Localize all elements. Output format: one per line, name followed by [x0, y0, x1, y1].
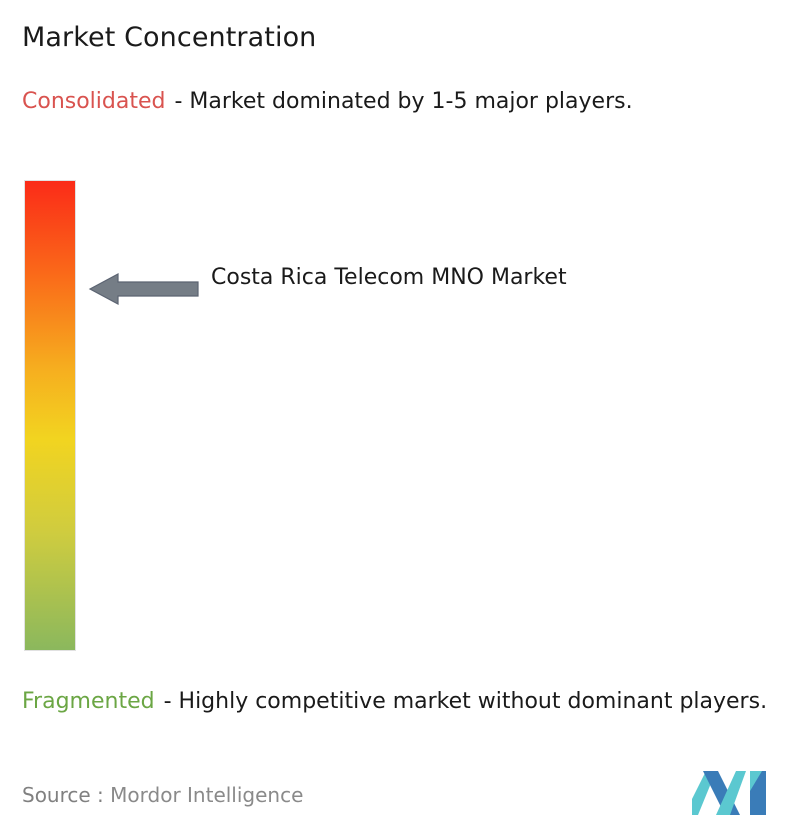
concentration-gradient-scale: [25, 181, 75, 650]
mordor-intelligence-logo: [692, 769, 772, 815]
left-arrow-shape: [90, 274, 198, 304]
legend-consolidated-description: - Market dominated by 1-5 major players.: [174, 89, 632, 114]
mordor-intelligence-logo-icon: [692, 769, 772, 815]
page-title: Market Concentration: [22, 21, 316, 55]
source-label: Source :: [22, 783, 104, 807]
source-value: Mordor Intelligence: [110, 783, 303, 807]
legend-fragmented-description: - Highly competitive market without domi…: [164, 689, 767, 714]
legend-consolidated: Consolidated- Market dominated by 1-5 ma…: [22, 86, 774, 117]
market-callout-label: Costa Rica Telecom MNO Market: [211, 261, 611, 295]
legend-fragmented: Fragmented- Highly competitive market wi…: [22, 686, 788, 717]
legend-consolidated-keyword: Consolidated: [22, 89, 165, 114]
legend-fragmented-keyword: Fragmented: [22, 689, 155, 714]
market-concentration-infographic: Market Concentration Consolidated- Marke…: [0, 0, 796, 834]
market-position-arrow: [88, 272, 200, 306]
source-attribution: Source : Mordor Intelligence: [22, 782, 303, 808]
left-arrow-icon: [88, 272, 200, 306]
